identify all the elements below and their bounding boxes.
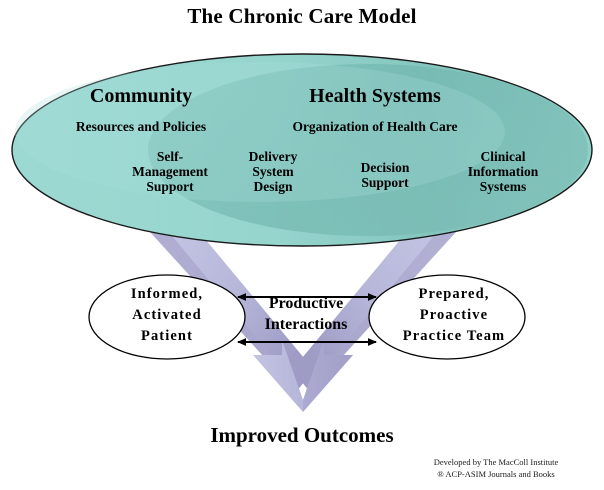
health-systems-subheading: Organization of Health Care <box>230 119 520 134</box>
prepared-proactive-team-label: Prepared, Proactive Practice Team <box>374 284 534 347</box>
community-subheading: Resources and Policies <box>18 119 264 134</box>
improved-outcomes-label: Improved Outcomes <box>0 424 604 448</box>
community-heading: Community <box>36 85 246 107</box>
productive-interactions-label: Productive Interactions <box>238 294 374 336</box>
component-decision-support: Decision Support <box>340 160 430 190</box>
component-self-management-support: Self- Management Support <box>122 149 218 194</box>
component-clinical-information-systems: Clinical Information Systems <box>448 149 558 194</box>
component-delivery-system-design: Delivery System Design <box>228 149 318 194</box>
health-systems-heading: Health Systems <box>250 85 500 107</box>
diagram-canvas <box>0 0 604 490</box>
credit-text: Developed by The MacColl Institute ® ACP… <box>396 456 596 481</box>
chronic-care-model-diagram: The Chronic Care Model Community Resourc… <box>0 0 604 490</box>
informed-activated-patient-label: Informed, Activated Patient <box>92 284 242 347</box>
diagram-title: The Chronic Care Model <box>0 5 604 29</box>
